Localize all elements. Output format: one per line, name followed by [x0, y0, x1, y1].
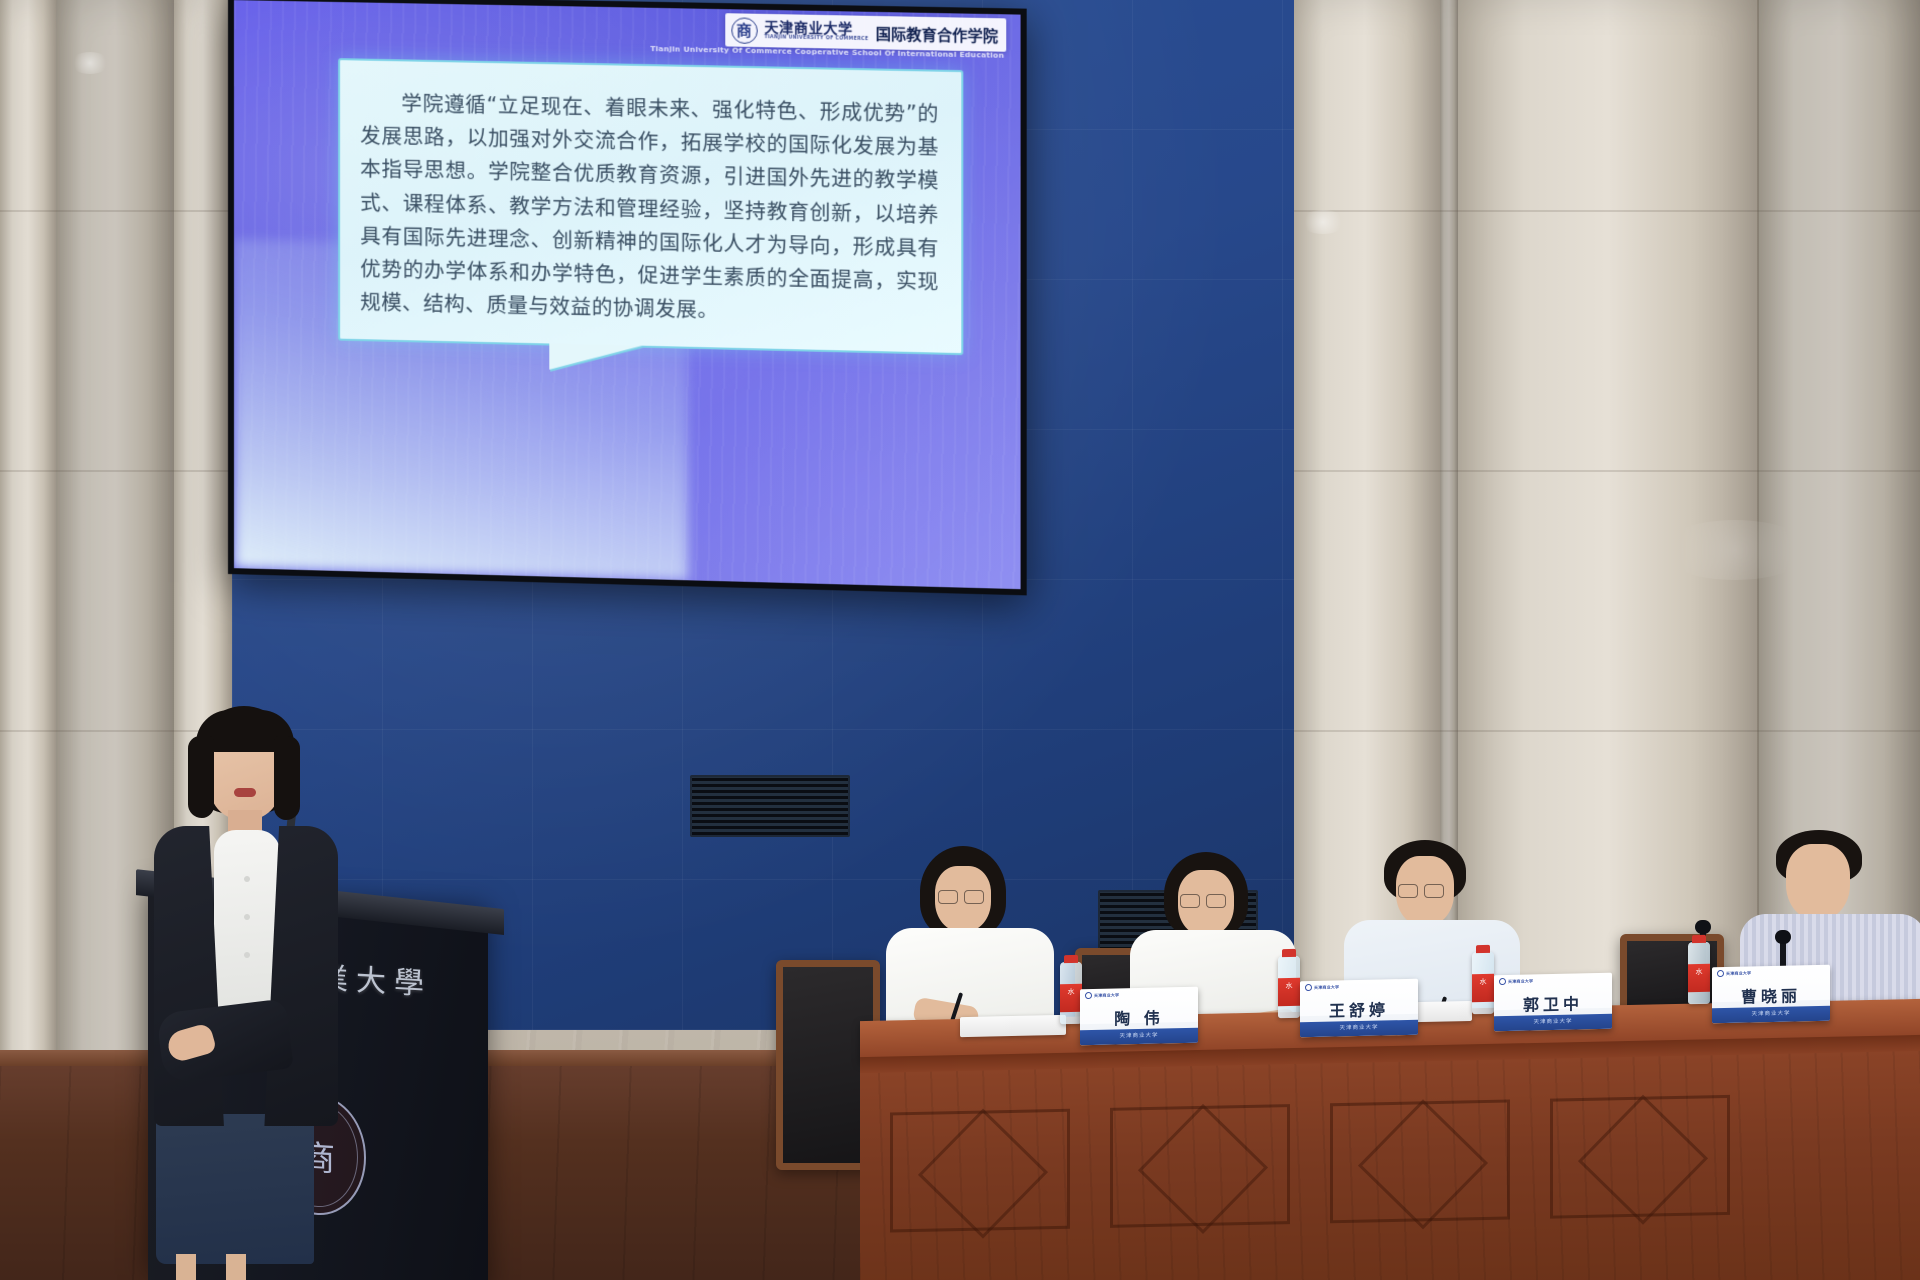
slide-body-text: 学院遵循“立足现在、着眼未来、强化特色、形成优势”的发展思路，以加强对外交流合作… [360, 87, 939, 333]
bottle-label: 水 [1060, 984, 1082, 1012]
bottle-cap [1282, 949, 1296, 957]
nameplate-emblem-icon [1499, 978, 1506, 985]
speaker-at-podium [130, 706, 350, 1280]
nameplate-org: 天津商业大学 [1314, 984, 1339, 991]
bottle-cap [1692, 935, 1706, 943]
bottle-brand: 水 [1480, 977, 1487, 987]
shirt-button [244, 952, 250, 958]
logo-university-name-en: TIANJIN UNIVERSITY OF COMMERCE [764, 36, 868, 43]
bottle-label: 水 [1472, 974, 1494, 1002]
microphone-head-icon [1775, 930, 1791, 944]
eyeglasses-icon [1180, 894, 1226, 906]
nameplate-name: 王舒婷 [1300, 996, 1418, 1022]
nameplate-seat-3: 天津商业大学 郭卫中 天津商业大学 [1494, 973, 1612, 1031]
conference-table [860, 1010, 1920, 1280]
speaker-white-shirt [214, 830, 280, 1020]
nameplate-seat-4: 天津商业大学 曹晓丽 天津商业大学 [1712, 965, 1830, 1023]
bottle-cap [1064, 955, 1078, 963]
bottle-cap [1476, 945, 1490, 953]
bottle-brand: 水 [1286, 981, 1293, 991]
slide-text-callout: 学院遵循“立足现在、着眼未来、强化特色、形成优势”的发展思路，以加强对外交流合作… [338, 58, 963, 355]
nameplate-seat-2: 天津商业大学 王舒婷 天津商业大学 [1300, 979, 1418, 1037]
speaker-leg-right [226, 1254, 246, 1280]
water-bottle: 水 [1472, 952, 1494, 1014]
conference-hall-photo: 商 天津商业大学 TIANJIN UNIVERSITY OF COMMERCE … [0, 0, 1920, 1280]
eyeglasses-icon [1398, 884, 1444, 896]
nameplate-org: 天津商业大学 [1726, 970, 1751, 977]
nameplate-name: 郭卫中 [1494, 990, 1612, 1016]
projection-screen: 商 天津商业大学 TIANJIN UNIVERSITY OF COMMERCE … [234, 0, 1021, 589]
callout-tail [549, 344, 642, 372]
nameplate-name: 曹晓丽 [1712, 982, 1830, 1008]
panelist-face [1786, 844, 1850, 920]
nameplate-band: 天津商业大学 [1300, 1020, 1418, 1037]
nameplate-org: 天津商业大学 [1508, 978, 1533, 985]
nameplate-seat-1: 天津商业大学 陶 伟 天津商业大学 [1080, 987, 1198, 1045]
shirt-button [244, 914, 250, 920]
nameplate-logo: 天津商业大学 [1499, 977, 1533, 985]
speaker-skirt [156, 1114, 314, 1264]
nameplate-logo: 天津商业大学 [1305, 983, 1339, 991]
speaker-mouth [234, 788, 256, 797]
nameplate-band: 天津商业大学 [1712, 1006, 1830, 1023]
shirt-button [244, 876, 250, 882]
nameplate-name: 陶 伟 [1080, 1004, 1198, 1030]
microphone-head-icon [1695, 920, 1711, 934]
nameplate-logo: 天津商业大学 [1085, 991, 1119, 999]
bottle-label: 水 [1688, 964, 1710, 992]
nameplate-emblem-icon [1085, 992, 1092, 999]
speaker-side-hair-left [188, 736, 214, 818]
nameplate-band: 天津商业大学 [1494, 1014, 1612, 1031]
speaker-leg-left [176, 1254, 196, 1280]
table-front-panel [860, 1051, 1920, 1280]
water-bottle: 水 [1278, 956, 1300, 1018]
nameplate-org: 天津商业大学 [1094, 992, 1119, 999]
nameplate-emblem-icon [1305, 984, 1312, 991]
nameplate-emblem-icon [1717, 970, 1724, 977]
nameplate-band: 天津商业大学 [1080, 1028, 1198, 1045]
table-panel-motif [1110, 1104, 1290, 1228]
university-emblem-icon: 商 [731, 17, 757, 44]
table-panel-motif [890, 1109, 1070, 1233]
water-bottle: 水 [1060, 962, 1082, 1024]
bottle-brand: 水 [1068, 987, 1075, 997]
eyeglasses-icon [938, 890, 984, 902]
nameplate-logo: 天津商业大学 [1717, 969, 1751, 977]
projection-screen-frame: 商 天津商业大学 TIANJIN UNIVERSITY OF COMMERCE … [228, 0, 1027, 595]
table-panel-motif [1550, 1095, 1730, 1219]
water-bottle: 水 [1688, 942, 1710, 1004]
speaker-side-hair-right [274, 736, 300, 820]
logo-text-block: 天津商业大学 TIANJIN UNIVERSITY OF COMMERCE [764, 21, 868, 43]
table-panel-motif [1330, 1099, 1510, 1223]
logo-department-name: 国际教育合作学院 [876, 23, 998, 47]
bottle-brand: 水 [1696, 967, 1703, 977]
bottle-label: 水 [1278, 978, 1300, 1006]
open-notebook [960, 1015, 1066, 1037]
wall-vent-center [690, 775, 850, 837]
